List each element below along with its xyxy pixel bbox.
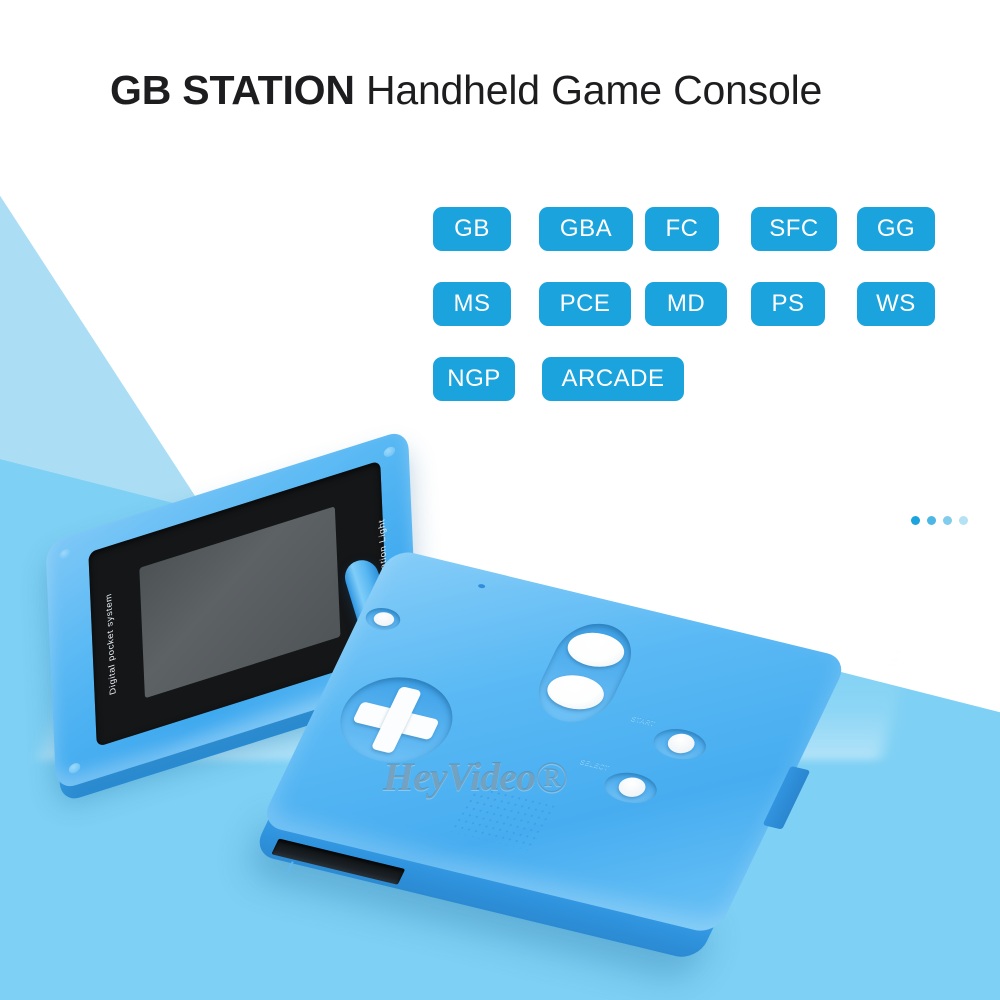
platform-badge-pce[interactable]: PCE	[539, 282, 631, 326]
platform-slot: SFC	[751, 207, 857, 251]
platform-badge-gba[interactable]: GBA	[539, 207, 633, 251]
platform-slot: MS	[433, 282, 539, 326]
platform-slot: PCE	[539, 282, 645, 326]
platform-slot: FC	[645, 207, 751, 251]
platform-row-1: GB GBA FC SFC GG	[433, 207, 963, 251]
platform-slot: GB	[433, 207, 539, 251]
platform-slot: PS	[751, 282, 857, 326]
power-led-indicator	[477, 583, 486, 588]
platform-badge-gg[interactable]: GG	[857, 207, 935, 251]
lid-screw-bottom-left	[69, 762, 81, 775]
start-button-label: START	[630, 715, 657, 727]
platform-badge-ws[interactable]: WS	[857, 282, 935, 326]
platform-badge-ngp[interactable]: NGP	[433, 357, 515, 401]
platform-slot: WS	[857, 282, 963, 326]
platform-badge-arcade[interactable]: ARCADE	[542, 357, 684, 401]
bezel-label-digital-pocket-system: Digital pocket system	[104, 592, 118, 696]
platform-slot: NGP	[433, 357, 542, 401]
platform-row-2: MS PCE MD PS WS	[433, 282, 963, 326]
dpad[interactable]	[343, 679, 451, 761]
select-button-label: SELECT	[579, 759, 611, 772]
supported-platforms-grid: GB GBA FC SFC GG MS PCE MD	[433, 207, 963, 432]
platform-slot: MD	[645, 282, 751, 326]
base-side-notch	[763, 766, 811, 830]
platform-badge-ms[interactable]: MS	[433, 282, 511, 326]
platform-row-3: NGP ARCADE	[433, 357, 963, 401]
page-title-brand: GB STATION	[110, 67, 355, 113]
lid-screw-top-left	[59, 548, 71, 561]
platform-badge-ps[interactable]: PS	[751, 282, 825, 326]
ab-button-recess	[526, 616, 644, 729]
platform-badge-gb[interactable]: GB	[433, 207, 511, 251]
watermark-text: HeyVideo	[383, 754, 535, 799]
button-a[interactable]	[561, 628, 630, 673]
lid-screw-top-right	[384, 445, 396, 458]
platform-slot: GBA	[539, 207, 645, 251]
platform-badge-fc[interactable]: FC	[645, 207, 719, 251]
platform-badge-sfc[interactable]: SFC	[751, 207, 837, 251]
page-title-suffix: Handheld Game Console	[355, 67, 822, 113]
registered-trademark-icon: ®	[535, 753, 567, 802]
seller-watermark: HeyVideo®	[383, 752, 567, 803]
platform-badge-md[interactable]: MD	[645, 282, 727, 326]
page-title: GB STATION Handheld Game Console	[110, 64, 990, 116]
product-image-canvas: GB STATION Handheld Game Console GB GBA …	[0, 0, 1000, 1000]
platform-slot: GG	[857, 207, 963, 251]
lcd-screen	[139, 506, 340, 698]
platform-slot: ARCADE	[542, 357, 702, 401]
product-photo-console: Digital pocket system GB Station Light	[0, 430, 1000, 1000]
button-b[interactable]	[541, 670, 610, 715]
